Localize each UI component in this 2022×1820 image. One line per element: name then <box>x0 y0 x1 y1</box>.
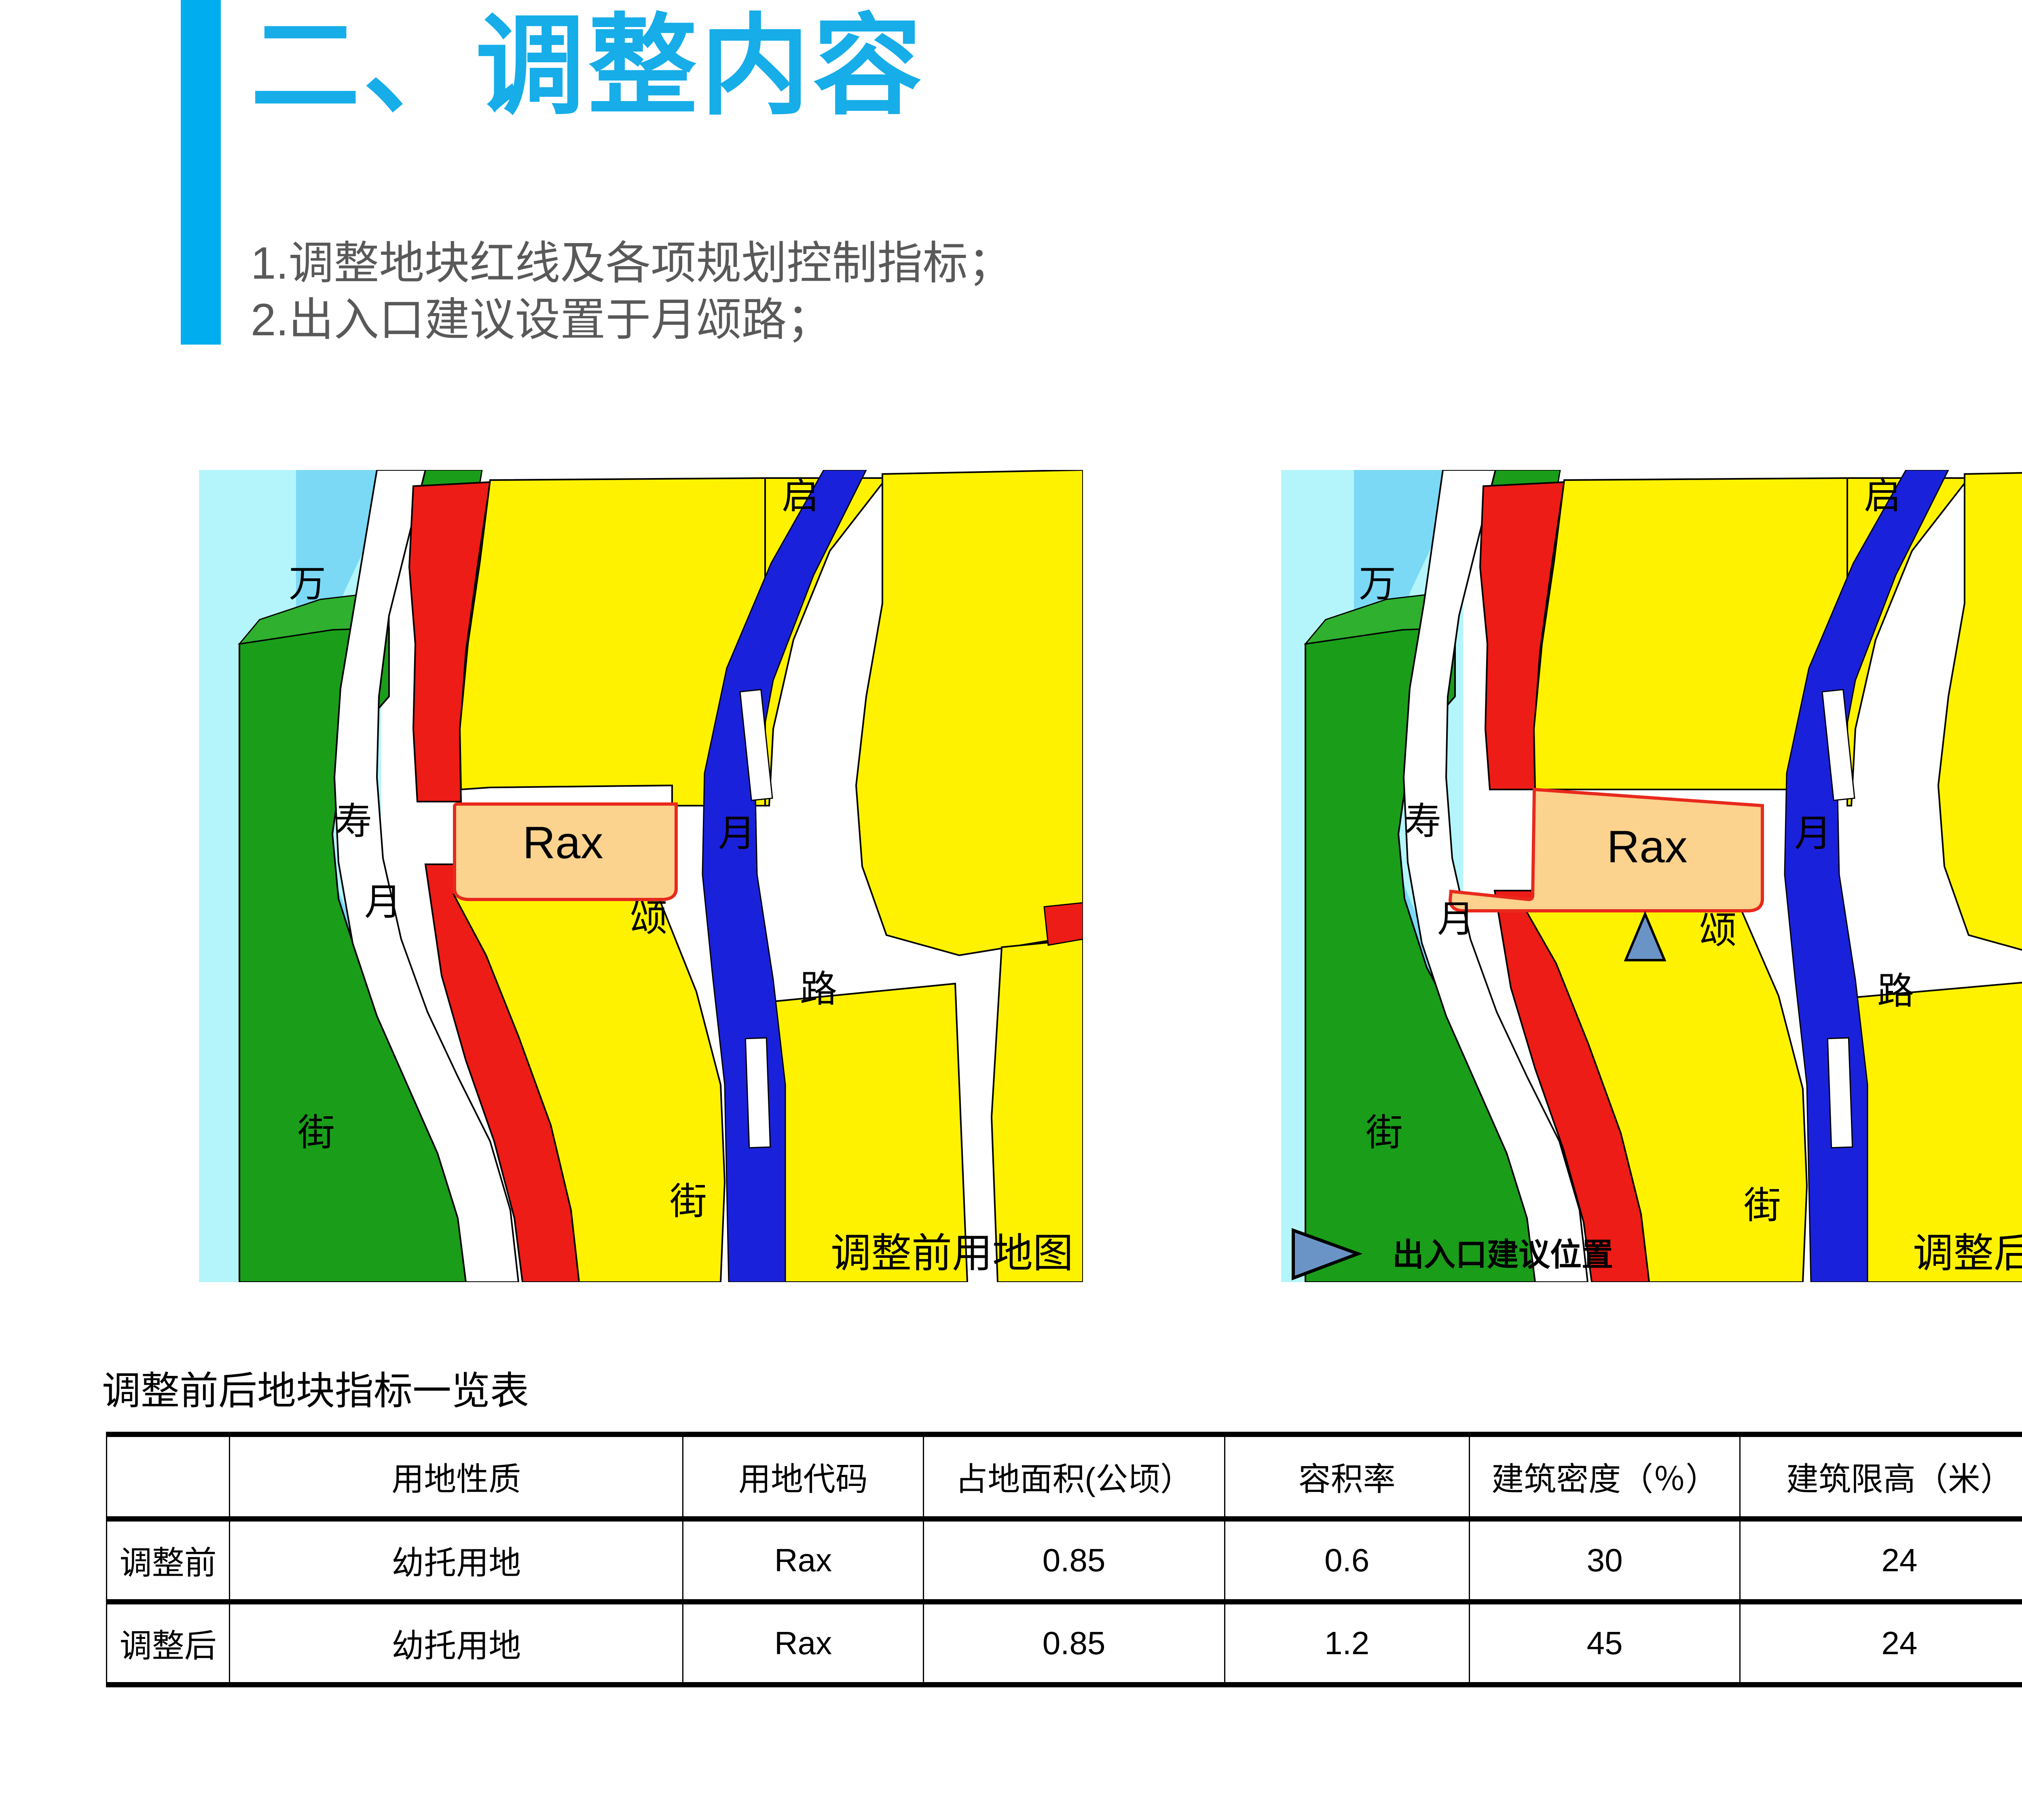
street-label-jie-east: 街 <box>670 1181 707 1222</box>
table-body: 调整前 幼托用地 Rax 0.85 0.6 30 24 40 调整后 幼托用地 … <box>107 1519 2022 1685</box>
map-after-svg: Rax 万 启 寿 月 月 颂 路 街 街 <box>1281 470 2022 1282</box>
road-red-far-e <box>1044 903 1083 945</box>
table-caption: 调整前后地块指标一览表 <box>102 1372 529 1411</box>
cell-after-site-area: 0.85 <box>923 1602 1225 1685</box>
cell-before-building-density: 30 <box>1469 1519 1740 1602</box>
map-before-svg: Rax 万 启 寿 月 月 颂 路 街 街 <box>199 470 1083 1282</box>
street-label-wan-after: 万 <box>1359 563 1396 605</box>
cell-after-land-use-code: Rax <box>683 1602 923 1685</box>
rail-station-south <box>745 1038 770 1148</box>
cell-after-building-density: 45 <box>1469 1602 1740 1685</box>
legend-label-entrance: 出入口建议位置 <box>1392 1230 1613 1275</box>
street-label-jie-west: 街 <box>298 1112 335 1153</box>
street-label-yue-right: 月 <box>718 813 755 854</box>
th-height-limit: 建筑限高（米） <box>1740 1435 2022 1519</box>
cell-after-height-limit: 24 <box>1740 1602 2022 1685</box>
bullet-item-1: 1.调整地块红线及各项规划控制指标； <box>251 241 1013 286</box>
street-label-jie-east-after: 街 <box>1744 1185 1781 1226</box>
bullet-item-2: 2.出入口建议设置于月颂路； <box>251 297 832 343</box>
cell-before-land-use-code: Rax <box>683 1519 923 1602</box>
map-after-caption: 调整后用地图 <box>1913 1220 2022 1279</box>
th-far: 容积率 <box>1225 1435 1469 1519</box>
street-label-yue-left-after: 月 <box>1437 899 1474 940</box>
parcel-rax-label-after: Rax <box>1607 821 1687 872</box>
street-label-shou: 寿 <box>335 801 372 842</box>
street-label-wan: 万 <box>289 563 326 605</box>
street-label-qi: 启 <box>782 475 819 516</box>
parcel-rax-label: Rax <box>522 817 603 868</box>
cell-before-height-limit: 24 <box>1740 1519 2022 1602</box>
row-label-after: 调整后 <box>107 1602 230 1685</box>
th-corner <box>107 1435 230 1519</box>
table-row-before: 调整前 幼托用地 Rax 0.85 0.6 30 24 40 <box>107 1519 2022 1602</box>
land-yellow-ne <box>856 470 1083 955</box>
street-label-lu-after: 路 <box>1877 971 1914 1012</box>
street-label-shou-after: 寿 <box>1404 801 1441 842</box>
row-label-before: 调整前 <box>107 1519 230 1602</box>
header-accent-bar <box>181 0 221 345</box>
street-label-yue-right-after: 月 <box>1794 813 1832 854</box>
map-after-adjustment[interactable]: Rax 万 启 寿 月 月 颂 路 街 街 出入口建议位置 调整后用地图 <box>1281 470 2022 1282</box>
table-header: 用地性质 用地代码 占地面积(公顷） 容积率 建筑密度（％） 建筑限高（米） 绿… <box>107 1435 2022 1519</box>
indicator-table: 用地性质 用地代码 占地面积(公顷） 容积率 建筑密度（％） 建筑限高（米） 绿… <box>106 1432 2022 1687</box>
cell-before-far: 0.6 <box>1225 1519 1469 1602</box>
th-land-use-nature: 用地性质 <box>230 1435 683 1519</box>
map-before-adjustment[interactable]: Rax 万 启 寿 月 月 颂 路 街 街 调整前用地图 <box>199 470 1083 1282</box>
cell-after-land-use-nature: 幼托用地 <box>230 1602 683 1685</box>
street-label-song-after: 颂 <box>1699 910 1736 951</box>
street-label-yue-left: 月 <box>364 882 402 923</box>
street-label-lu: 路 <box>800 969 837 1010</box>
street-label-song: 颂 <box>630 898 667 939</box>
th-site-area: 占地面积(公顷） <box>923 1435 1225 1519</box>
map-before-caption: 调整前用地图 <box>831 1220 1073 1279</box>
street-label-jie-west-after: 街 <box>1366 1112 1403 1153</box>
cell-before-land-use-nature: 幼托用地 <box>230 1519 683 1602</box>
rail-station-south-after <box>1827 1038 1852 1148</box>
page-title: 二、调整内容 <box>251 12 925 121</box>
land-yellow-ne-after <box>1938 470 2022 955</box>
table-header-row: 用地性质 用地代码 占地面积(公顷） 容积率 建筑密度（％） 建筑限高（米） 绿… <box>107 1435 2022 1519</box>
th-building-density: 建筑密度（％） <box>1469 1435 1740 1519</box>
table-row-after: 调整后 幼托用地 Rax 0.85 1.2 45 24 20 <box>107 1602 2022 1685</box>
cell-before-site-area: 0.85 <box>923 1519 1225 1602</box>
cell-after-far: 1.2 <box>1225 1602 1469 1685</box>
th-land-use-code: 用地代码 <box>683 1435 923 1519</box>
street-label-qi-after: 启 <box>1864 475 1901 516</box>
